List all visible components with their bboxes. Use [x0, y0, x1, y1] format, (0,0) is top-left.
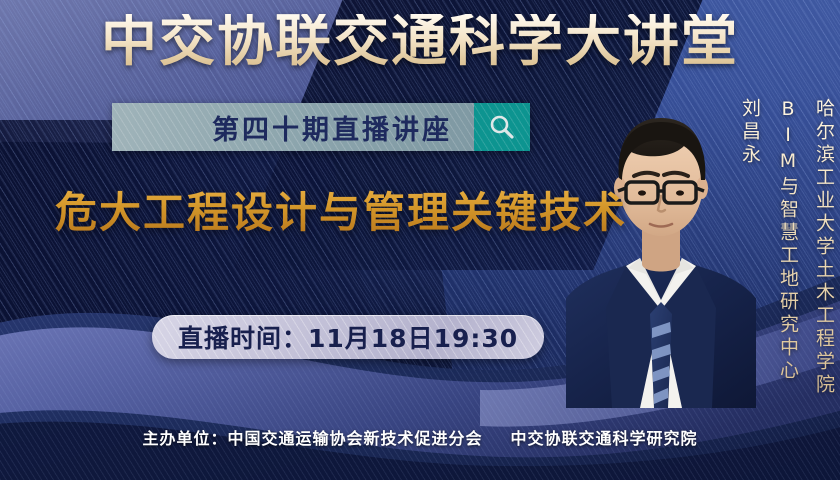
broadcast-time-badge: 直播时间：11月18日19:30 — [152, 315, 544, 359]
lecture-headline: 危大工程设计与管理关键技术 — [55, 190, 627, 236]
speaker-organization: 哈尔滨工业大学土木工程学院 — [806, 98, 838, 397]
footer-organizers: 主办单位：中国交通运输协会新技术促进分会中交协联交通科学研究院 — [0, 425, 840, 449]
organizer-label: 主办单位： — [142, 429, 227, 448]
episode-banner-body: 第四十期直播讲座 — [112, 103, 474, 151]
page-title: 中交协联交通科学大讲堂 — [0, 14, 840, 70]
search-icon — [487, 112, 517, 142]
episode-banner: 第四十期直播讲座 — [112, 103, 530, 151]
broadcast-time-text: 直播时间：11月18日19:30 — [178, 319, 518, 355]
speaker-title: 执行主任 — [710, 98, 737, 397]
speaker-info-vertical: 哈尔滨工业大学土木工程学院 BIM与智慧工地研究中心 刘昌永 执行主任 — [734, 98, 838, 397]
organizer-name-2: 中交协联交通科学研究院 — [511, 429, 698, 448]
speaker-research-center: BIM与智慧工地研究中心 — [770, 98, 802, 397]
speaker-name: 刘昌永 — [737, 98, 764, 375]
search-icon-box[interactable] — [474, 103, 530, 151]
episode-label: 第四十期直播讲座 — [212, 108, 474, 147]
organizer-name-1: 中国交通运输协会新技术促进分会 — [227, 429, 482, 448]
speaker-name-title: 刘昌永 执行主任 — [734, 98, 764, 397]
webinar-poster: 中交协联交通科学大讲堂 第四十期直播讲座 危大工程设计与管理关键技术 直播时间：… — [0, 0, 840, 480]
